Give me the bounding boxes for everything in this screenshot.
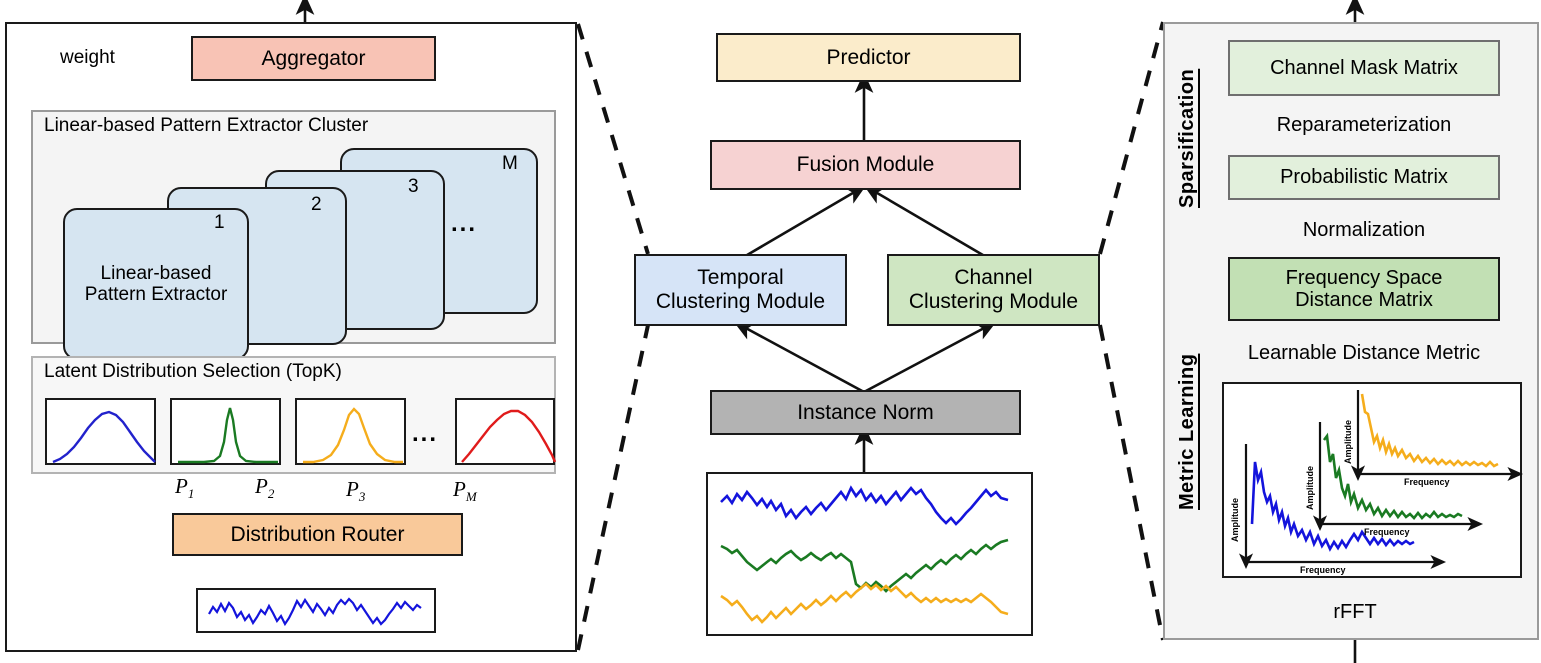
channel-mask-matrix-box[interactable]: Channel Mask Matrix bbox=[1228, 40, 1500, 96]
channel-clustering-label: Channel Clustering Module bbox=[909, 266, 1078, 313]
curve-4 bbox=[462, 411, 555, 462]
spectrum-orange-curve bbox=[1362, 394, 1498, 466]
fusion-module-label: Fusion Module bbox=[797, 153, 935, 177]
curve-3 bbox=[303, 409, 403, 462]
aggregator-box[interactable]: Aggregator bbox=[191, 36, 436, 81]
channel-clustering-box[interactable]: Channel Clustering Module bbox=[887, 254, 1100, 326]
distribution-plot-3[interactable] bbox=[295, 398, 406, 465]
instance-norm-label: Instance Norm bbox=[797, 401, 934, 425]
extractor-card-m-index: M bbox=[502, 153, 518, 175]
curve-1 bbox=[53, 412, 155, 462]
rfft-label: rFFT bbox=[1300, 598, 1410, 626]
spectrum-green-xlabel: Frequency bbox=[1364, 527, 1410, 537]
distribution-router-box[interactable]: Distribution Router bbox=[172, 513, 463, 556]
probabilistic-matrix-box[interactable]: Probabilistic Matrix bbox=[1228, 155, 1500, 200]
left-input-series-box bbox=[196, 588, 436, 633]
distribution-ellipsis: ... bbox=[412, 420, 438, 448]
spectrum-blue-xlabel: Frequency bbox=[1300, 565, 1346, 575]
weight-label: weight bbox=[56, 47, 119, 69]
frequency-space-distance-matrix-box[interactable]: Frequency Space Distance Matrix bbox=[1228, 257, 1500, 321]
center-input-series-box bbox=[706, 472, 1033, 636]
extractor-card-3-index: 3 bbox=[408, 176, 419, 198]
learnable-distance-metric-label: Learnable Distance Metric bbox=[1208, 338, 1520, 368]
predictor-box[interactable]: Predictor bbox=[716, 33, 1021, 82]
spectrum-blue-ylabel: Amplitude bbox=[1230, 472, 1240, 542]
reparameterization-label: Reparameterization bbox=[1228, 110, 1500, 140]
series-channel-2 bbox=[721, 540, 1008, 591]
distribution-plot-2[interactable] bbox=[170, 398, 281, 465]
instance-norm-box[interactable]: Instance Norm bbox=[710, 390, 1021, 435]
fusion-module-box[interactable]: Fusion Module bbox=[710, 140, 1021, 190]
normalization-label: Normalization bbox=[1228, 215, 1500, 245]
series-channel-3 bbox=[721, 584, 1008, 622]
latent-distribution-title: Latent Distribution Selection (TopK) bbox=[44, 361, 342, 383]
spectrum-orange-axes bbox=[1358, 390, 1516, 474]
probability-label-3: P3 bbox=[346, 477, 365, 505]
extractor-card-1-index: 1 bbox=[214, 212, 225, 234]
spectrum-orange-ylabel: Amplitude bbox=[1343, 402, 1353, 464]
aggregator-label: Aggregator bbox=[262, 47, 366, 71]
distribution-plot-1[interactable] bbox=[45, 398, 156, 465]
spectra-box: Amplitude Frequency Amplitude Frequency … bbox=[1222, 382, 1522, 578]
metric-learning-group-label: Metric Learning bbox=[1176, 330, 1199, 510]
spectrum-orange-xlabel: Frequency bbox=[1404, 477, 1450, 487]
temporal-clustering-label: Temporal Clustering Module bbox=[656, 266, 825, 313]
extractor-card-2-index: 2 bbox=[311, 194, 322, 216]
distribution-router-label: Distribution Router bbox=[231, 523, 405, 547]
predictor-label: Predictor bbox=[826, 46, 910, 70]
probability-label-2: P2 bbox=[255, 474, 274, 502]
probability-label-m: PM bbox=[453, 477, 477, 505]
figure-canvas: Aggregator weight Linear-based Pattern E… bbox=[0, 0, 1541, 663]
frequency-space-distance-matrix-label: Frequency Space Distance Matrix bbox=[1286, 267, 1443, 312]
input-series-curve bbox=[209, 599, 421, 624]
probability-label-1: P1 bbox=[175, 474, 194, 502]
sparsification-group-label: Sparsification bbox=[1176, 48, 1199, 208]
extractor-card-1-label: Linear-based Pattern Extractor bbox=[85, 263, 228, 306]
extractor-ellipsis: ... bbox=[451, 210, 477, 238]
spectrum-green-ylabel: Amplitude bbox=[1305, 446, 1315, 510]
distribution-plot-4[interactable] bbox=[455, 398, 555, 465]
cluster-title: Linear-based Pattern Extractor Cluster bbox=[44, 115, 368, 137]
curve-2 bbox=[178, 408, 278, 462]
probabilistic-matrix-label: Probabilistic Matrix bbox=[1280, 166, 1448, 188]
channel-mask-matrix-label: Channel Mask Matrix bbox=[1270, 57, 1458, 79]
series-channel-1 bbox=[721, 488, 1008, 524]
temporal-clustering-box[interactable]: Temporal Clustering Module bbox=[634, 254, 847, 326]
